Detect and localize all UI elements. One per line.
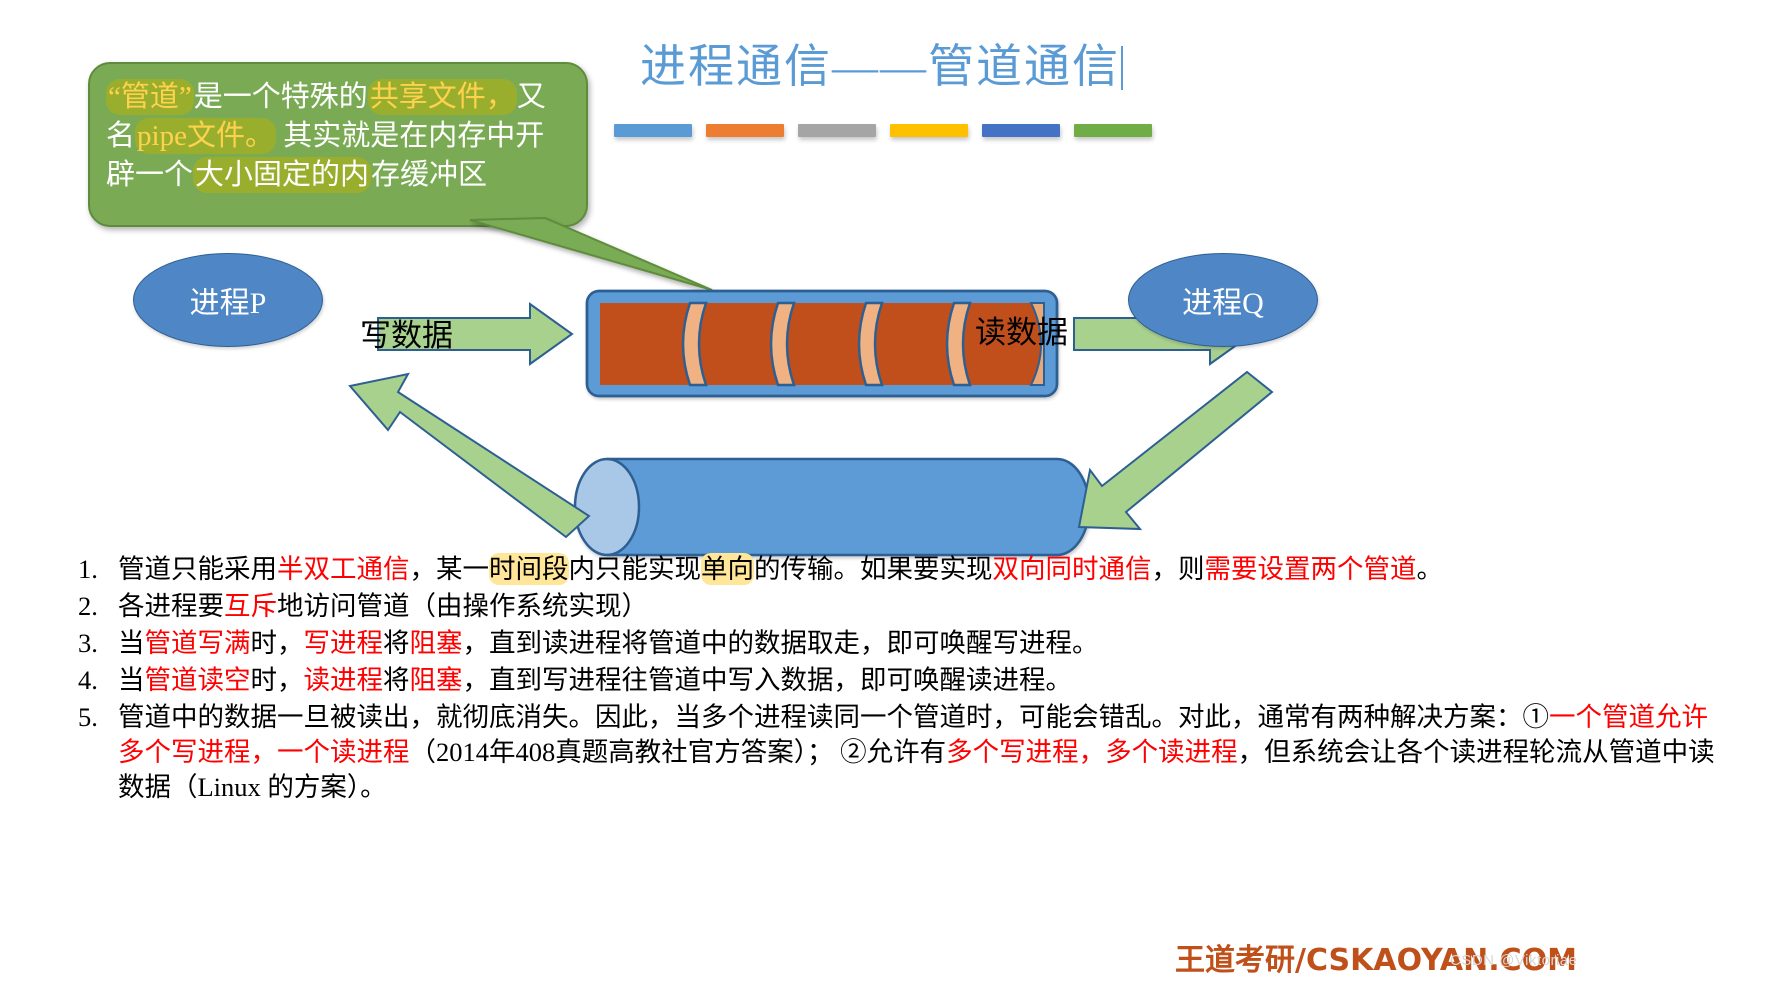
list-item-number: 5. <box>78 700 118 805</box>
list-text-segment: 多个写进程，多个读进程 <box>946 737 1238 767</box>
accent-bar-gray <box>798 124 876 137</box>
list-item-number: 2. <box>78 589 118 624</box>
list-text-segment: 半双工通信 <box>277 554 410 584</box>
list-item: 5.管道中的数据一旦被读出，就彻底消失。因此，当多个进程读同一个管道时，可能会错… <box>78 700 1718 805</box>
list-text-segment: 需要设置两个管道 <box>1205 554 1417 584</box>
accent-bar-blue <box>614 124 692 137</box>
watermark: CSDN @Viktoriae <box>1450 952 1578 969</box>
accent-bar-yellow <box>890 124 968 137</box>
list-text-segment: 当 <box>118 665 145 695</box>
list-text-segment: 管道写满 <box>145 628 251 658</box>
list-text-segment: 单向 <box>701 553 754 585</box>
list-item: 2.各进程要互斥地访问管道（由操作系统实现） <box>78 589 1718 624</box>
callout-segment: “管道” <box>106 79 194 115</box>
list-text-segment: （2014年408真题高教社官方答案）； ②允许有 <box>410 737 947 767</box>
list-item: 3.当管道写满时，写进程将阻塞，直到读进程将管道中的数据取走，即可唤醒写进程。 <box>78 626 1718 661</box>
notes-list: 1.管道只能采用半双工通信，某一时间段内只能实现单向的传输。如果要实现双向同时通… <box>78 552 1718 807</box>
callout-bubble: “管道”是一个特殊的共享文件，又名pipe文件。 其实就是在内存中开辟一个大小固… <box>88 62 588 227</box>
list-item-number: 1. <box>78 552 118 587</box>
list-text-segment: 互斥 <box>224 591 277 621</box>
list-text-segment: 管道只能采用 <box>118 554 277 584</box>
callout-segment: 是一个特殊的 <box>194 81 368 113</box>
list-item-text: 当管道写满时，写进程将阻塞，直到读进程将管道中的数据取走，即可唤醒写进程。 <box>118 626 1718 661</box>
page-title-text: 进程通信——管道通信 <box>640 41 1120 92</box>
slide-canvas: 进程通信——管道通信 “管道”是一个特殊的共享文件，又名pipe文件。 其实就是… <box>0 0 1784 996</box>
list-item-number: 3. <box>78 626 118 661</box>
list-text-segment: ，直到读进程将管道中的数据取走，即可唤醒写进程。 <box>463 628 1099 658</box>
accent-bar-orange <box>706 124 784 137</box>
list-item-number: 4. <box>78 663 118 698</box>
list-text-segment: 内只能实现 <box>569 554 702 584</box>
list-text-segment: 将 <box>383 628 410 658</box>
process-q-node[interactable]: 进程Q <box>1128 253 1318 347</box>
page-title: 进程通信——管道通信 <box>640 30 1340 96</box>
list-text-segment: 各进程要 <box>118 591 224 621</box>
list-text-segment: 管道中的数据一旦被读出，就彻底消失。因此，当多个进程读同一个管道时，可能会错乱。… <box>118 702 1549 732</box>
list-text-segment: 写进程 <box>304 628 384 658</box>
list-text-segment: 双向同时通信 <box>993 554 1152 584</box>
callout-segment: 共享文件， <box>368 79 517 115</box>
arrow-q-to-pipe <box>1079 372 1272 529</box>
list-item-text: 管道中的数据一旦被读出，就彻底消失。因此，当多个进程读同一个管道时，可能会错乱。… <box>118 700 1718 805</box>
list-text-segment: 的传输。如果要实现 <box>754 554 993 584</box>
callout-segment: pipe文件。 <box>135 118 276 154</box>
write-data-label: 写数据 <box>360 310 453 355</box>
list-text-segment: 管道读空 <box>145 665 251 695</box>
process-q-label: 进程Q <box>1182 278 1264 322</box>
list-text-segment: ，直到写进程往管道中写入数据，即可唤醒读进程。 <box>463 665 1073 695</box>
callout-segment: 存缓冲区 <box>371 159 487 191</box>
list-item: 4.当管道读空时，读进程将阻塞，直到写进程往管道中写入数据，即可唤醒读进程。 <box>78 663 1718 698</box>
callout-segment: 大小固定的内 <box>193 157 371 193</box>
process-p-label: 进程P <box>190 278 267 322</box>
list-text-segment: 将 <box>383 665 410 695</box>
list-text-segment: 读进程 <box>304 665 384 695</box>
arrow-pipe-to-p <box>350 374 589 537</box>
list-text-segment: 。 <box>1417 554 1444 584</box>
read-data-label: 读数据 <box>975 307 1068 352</box>
list-text-segment: 阻塞 <box>410 665 463 695</box>
list-text-segment: ，则 <box>1152 554 1205 584</box>
title-accent-bars <box>614 124 1152 137</box>
accent-bar-green <box>1074 124 1152 137</box>
callout-tail-pointer <box>470 218 712 290</box>
text-caret <box>1121 46 1123 90</box>
list-text-segment: 地访问管道（由操作系统实现） <box>277 591 648 621</box>
list-text-segment: 当 <box>118 628 145 658</box>
callout-text: “管道”是一个特殊的共享文件，又名pipe文件。 其实就是在内存中开辟一个大小固… <box>106 79 546 193</box>
list-text-segment: 时间段 <box>489 553 569 585</box>
pipe-cylinder-empty <box>575 459 1089 555</box>
list-text-segment: 阻塞 <box>410 628 463 658</box>
list-item-text: 各进程要互斥地访问管道（由操作系统实现） <box>118 589 1718 624</box>
process-p-node[interactable]: 进程P <box>133 253 323 347</box>
list-item-text: 当管道读空时，读进程将阻塞，直到写进程往管道中写入数据，即可唤醒读进程。 <box>118 663 1718 698</box>
accent-bar-darkblue <box>982 124 1060 137</box>
list-text-segment: ，某一 <box>410 554 490 584</box>
list-text-segment: 时， <box>251 628 304 658</box>
list-item: 1.管道只能采用半双工通信，某一时间段内只能实现单向的传输。如果要实现双向同时通… <box>78 552 1718 587</box>
list-text-segment: 时， <box>251 665 304 695</box>
list-item-text: 管道只能采用半双工通信，某一时间段内只能实现单向的传输。如果要实现双向同时通信，… <box>118 552 1718 587</box>
